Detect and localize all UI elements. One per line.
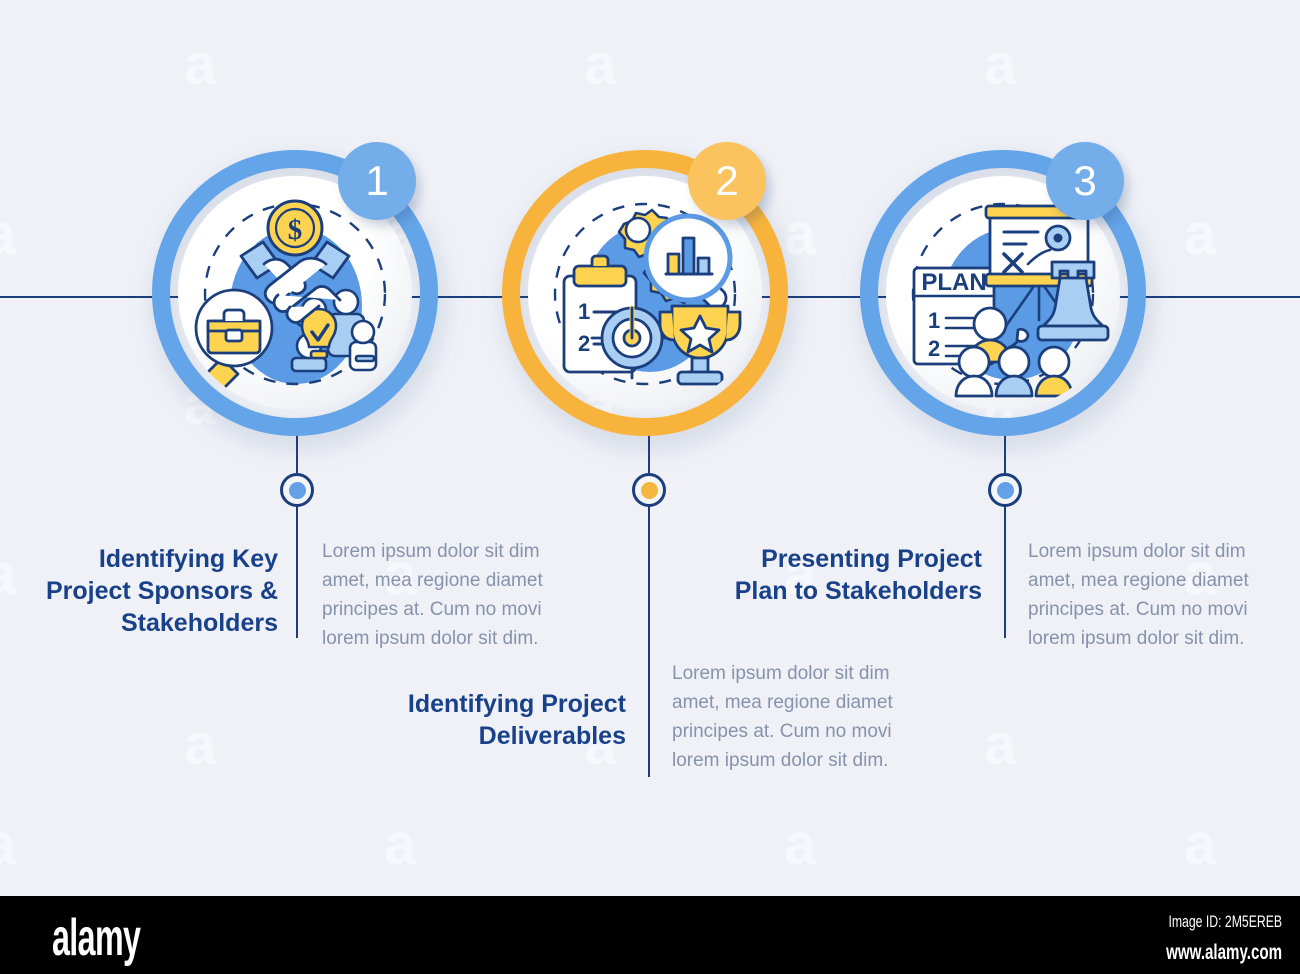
watermark-letter: a [184, 716, 216, 774]
step-2-heading: Identifying Project Deliverables [370, 688, 626, 752]
svg-text:2: 2 [578, 331, 590, 356]
step-2-node-dot [641, 482, 658, 499]
footer-meta: Image ID: 2M5EREB www.alamy.com [1121, 912, 1282, 965]
step-3-body: Lorem ipsum dolor sit dim amet, mea regi… [1028, 538, 1278, 654]
step-2-stem-lower [648, 505, 650, 777]
step-3-node[interactable] [988, 473, 1022, 507]
step-2[interactable]: 1 2 [502, 150, 788, 436]
step-1-number-badge: 1 [338, 142, 416, 220]
step-1[interactable]: $ 1 [152, 150, 438, 436]
step-1-node[interactable] [280, 473, 314, 507]
step-1-stem-lower [296, 505, 298, 638]
infographic-canvas: a a a a a a a a a a a a a a a a a a a a … [0, 0, 1300, 974]
watermark-letter: a [1184, 206, 1216, 264]
svg-text:1: 1 [578, 299, 590, 324]
step-3-node-dot [997, 482, 1014, 499]
step-3-stem-lower [1004, 505, 1006, 638]
step-2-number-badge: 2 [688, 142, 766, 220]
alamy-footer-bar: alamy Image ID: 2M5EREB www.alamy.com [0, 896, 1300, 974]
step-1-heading: Identifying Key Project Sponsors & Stake… [20, 543, 278, 639]
step-2-body: Lorem ipsum dolor sit dim amet, mea regi… [672, 660, 922, 776]
step-1-body: Lorem ipsum dolor sit dim amet, mea regi… [322, 538, 572, 654]
watermark-letter: a [384, 816, 416, 874]
alamy-logo: alamy [52, 908, 140, 968]
svg-text:1: 1 [928, 308, 940, 333]
watermark-letter: a [1184, 816, 1216, 874]
step-2-node[interactable] [632, 473, 666, 507]
svg-text:$: $ [288, 214, 303, 246]
svg-text:2: 2 [928, 336, 940, 361]
watermark-letter: a [784, 206, 816, 264]
watermark-letter: a [984, 716, 1016, 774]
watermark-letter: a [184, 36, 216, 94]
footer-url[interactable]: www.alamy.com [1166, 941, 1282, 965]
step-3[interactable]: PLAN 1 2 [860, 150, 1146, 436]
step-3-heading: Presenting Project Plan to Stakeholders [724, 543, 982, 607]
watermark-letter: a [0, 206, 16, 264]
step-1-node-dot [289, 482, 306, 499]
watermark-letter: a [984, 36, 1016, 94]
watermark-letter: a [0, 546, 16, 604]
watermark-letter: a [584, 36, 616, 94]
svg-text:PLAN: PLAN [921, 269, 986, 296]
footer-image-id: Image ID: 2M5EREB [1166, 912, 1282, 932]
watermark-letter: a [0, 816, 16, 874]
watermark-letter: a [784, 816, 816, 874]
step-3-number-badge: 3 [1046, 142, 1124, 220]
